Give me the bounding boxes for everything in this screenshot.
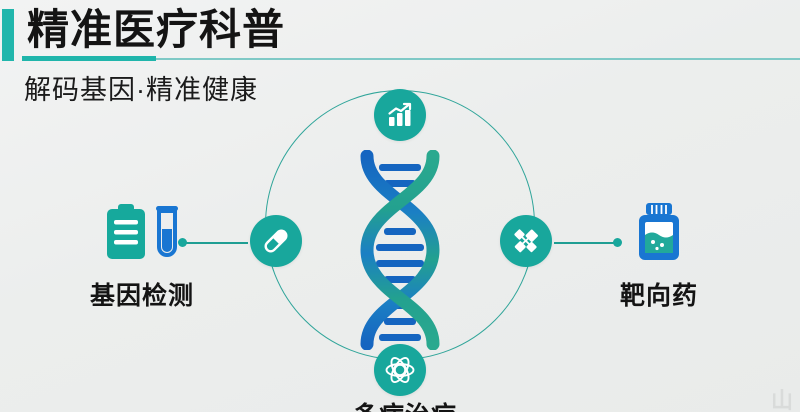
targeted-drug-icons [585,200,733,268]
molecule-network-icon [511,226,541,256]
item-label-multi-disease-treatment: 多病治疗 [330,396,480,412]
node-research[interactable] [374,344,426,396]
infographic-stage: 基因检测 [0,0,800,412]
gene-testing-icons [68,200,216,268]
item-targeted-drug[interactable]: 靶向药 [585,200,733,312]
item-gene-testing[interactable]: 基因检测 [68,200,216,312]
clipboard-report-icon [104,203,148,268]
item-label-targeted-drug: 靶向药 [585,276,733,312]
medicine-bottle-icon [633,201,685,268]
pill-capsule-icon [261,226,291,256]
item-label-gene-testing: 基因检测 [68,276,216,312]
test-tube-icon [154,203,180,268]
bar-chart-growth-icon [385,100,415,130]
dna-helix-icon [345,150,455,355]
node-molecule[interactable] [500,215,552,267]
node-medication[interactable] [250,215,302,267]
slide-canvas: 精准医疗科普 解码基因·精准健康 [0,0,800,412]
watermark: 山 [771,390,794,412]
node-analytics[interactable] [374,89,426,141]
atom-icon [384,354,416,386]
